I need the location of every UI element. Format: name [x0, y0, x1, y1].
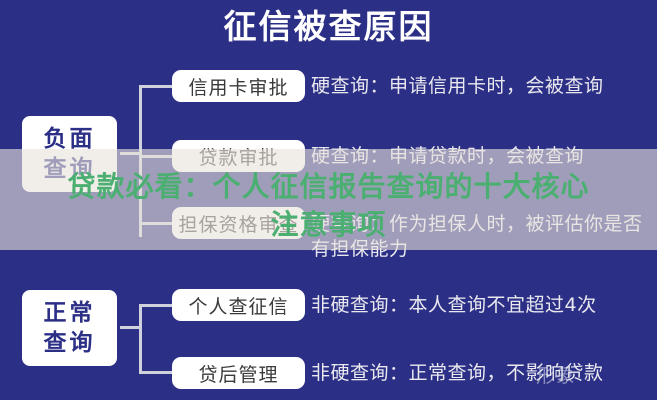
connector-line-negative-branch-2 [139, 155, 174, 158]
leaf-node-self-credit-check: 个人查征信 [172, 289, 305, 321]
infographic-canvas: 征信被查原因 负面 查询 正常 查询 形象 信用卡审批 贷款审批 担保资格审查 … [0, 0, 657, 400]
overlay-headline: 贷款必看：个人征信报告查询的十大核心注意事项 [0, 168, 657, 244]
leaf-node-post-loan-management: 贷后管理 [172, 357, 305, 389]
leaf-description-credit-card-approval: 硬查询：申请信用卡时，会被查询 [311, 74, 604, 99]
connector-line-normal-stem [120, 326, 141, 329]
leaf-node-credit-card-approval: 信用卡审批 [172, 70, 305, 102]
root-node-normal-query-line1: 正常 [44, 298, 96, 328]
root-node-normal-query-line2: 查询 [44, 328, 96, 358]
connector-line-negative-stem [120, 152, 141, 155]
leaf-description-loan-approval: 硬查询：申请贷款时，会被查询 [311, 144, 584, 169]
page-title: 征信被查原因 [0, 6, 657, 48]
leaf-description-self-credit-check: 非硬查询：本人查询不宜超过4次 [311, 293, 597, 318]
connector-line-normal-branch-1 [139, 304, 174, 307]
root-node-normal-query: 正常 查询 [19, 287, 120, 369]
root-node-negative-query-line1: 负面 [44, 124, 96, 154]
connector-line-negative-branch-1 [139, 85, 174, 88]
connector-line-normal-spine [139, 304, 142, 372]
leaf-description-post-loan-management: 非硬查询：正常查询，不影响贷款 [311, 361, 604, 386]
connector-line-normal-branch-2 [139, 371, 174, 374]
